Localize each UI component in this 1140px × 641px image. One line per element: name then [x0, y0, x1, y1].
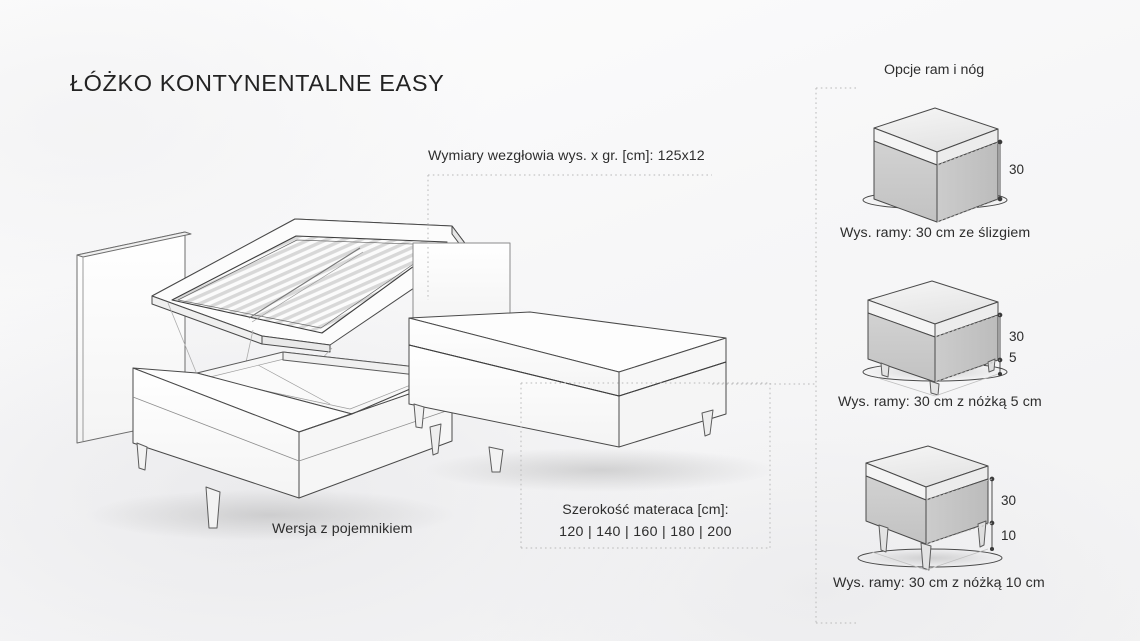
option-1-illustration: [863, 108, 1007, 222]
left-bed-leg-left: [137, 443, 147, 470]
right-bed-leg-front: [489, 447, 503, 472]
left-bed-leg-right: [430, 424, 441, 455]
option-3-label: Wys. ramy: 30 cm z nóżką 10 cm: [833, 575, 1045, 591]
left-bed-leg-front: [206, 487, 220, 528]
option-3-leg-right: [978, 521, 986, 547]
option-2-illustration: [863, 281, 1007, 396]
right-bed-leg-left: [414, 404, 424, 428]
option-1-frame-height-value: 30: [1009, 162, 1024, 177]
storage-version-label: Wersja z pojemnikiem: [272, 521, 413, 537]
option-3-leg-left: [879, 525, 888, 552]
option-2-leg-front: [930, 381, 939, 395]
option-3-frame-height-value: 30: [1001, 493, 1016, 508]
option-2-leg-left: [881, 363, 889, 377]
option-3-leg-height-value: 10: [1001, 528, 1016, 543]
right-bed-illustration: [409, 243, 726, 472]
right-bed-leg-right: [702, 410, 713, 436]
headboard-dimensions-label: Wymiary wezgłowia wys. x gr. [cm]: 125x1…: [428, 148, 705, 164]
mattress-width-label-line1: Szerokość materaca [cm]:: [521, 502, 770, 518]
options-panel-title: Opcje ram i nóg: [884, 62, 984, 78]
floor-shadow-right: [425, 448, 775, 492]
mattress-width-values: 120 | 140 | 160 | 180 | 200: [521, 524, 770, 540]
option-2-label: Wys. ramy: 30 cm z nóżką 5 cm: [838, 394, 1042, 410]
option-2-leg-height-value: 5: [1009, 350, 1017, 365]
illustration-layer: [0, 0, 1140, 641]
option-2-frame-height-value: 30: [1009, 329, 1024, 344]
diagram-stage: ŁÓŻKO KONTYNENTALNE EASY: [0, 0, 1140, 641]
option-3-leg-front: [921, 543, 931, 570]
option-1-label: Wys. ramy: 30 cm ze ślizgiem: [840, 225, 1030, 241]
option-3-illustration: [858, 446, 1002, 570]
